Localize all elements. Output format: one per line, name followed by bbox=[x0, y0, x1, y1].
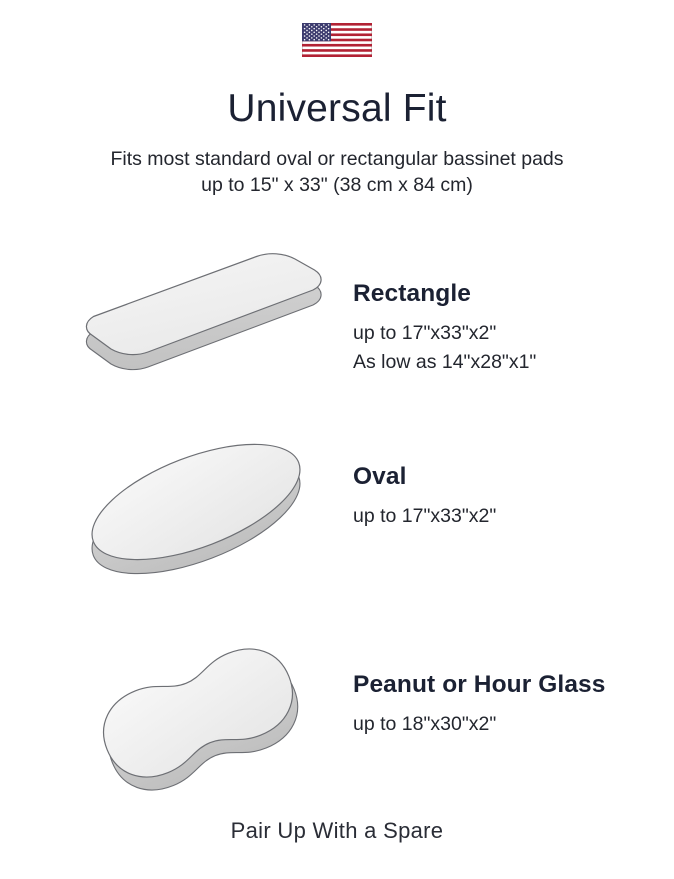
infographic-page: Universal Fit Fits most standard oval or… bbox=[0, 0, 674, 879]
oval-mattress-art bbox=[56, 430, 341, 620]
rectangle-info: Rectangle up to 17"x33"x2" As low as 14"… bbox=[353, 279, 653, 377]
shape-detail-rectangle-2: As low as 14"x28"x1" bbox=[353, 348, 653, 377]
shape-row-rectangle: Rectangle up to 17"x33"x2" As low as 14"… bbox=[0, 233, 674, 423]
footer-tagline: Pair Up With a Spare bbox=[0, 817, 674, 845]
peanut-mattress-art bbox=[56, 625, 341, 815]
shape-detail-oval-1: up to 17"x33"x2" bbox=[353, 502, 653, 531]
shape-heading-peanut: Peanut or Hour Glass bbox=[353, 670, 653, 699]
flag-container bbox=[0, 23, 674, 57]
oval-mattress-icon bbox=[56, 430, 341, 620]
us-flag-icon bbox=[302, 23, 372, 57]
subtitle-line-2: up to 15" x 33" (38 cm x 84 cm) bbox=[0, 172, 674, 198]
rectangle-mattress-icon bbox=[56, 233, 341, 423]
page-subtitle: Fits most standard oval or rectangular b… bbox=[0, 146, 674, 198]
shape-heading-rectangle: Rectangle bbox=[353, 279, 653, 308]
peanut-info: Peanut or Hour Glass up to 18"x30"x2" bbox=[353, 670, 653, 739]
shape-row-peanut: Peanut or Hour Glass up to 18"x30"x2" bbox=[0, 625, 674, 815]
subtitle-line-1: Fits most standard oval or rectangular b… bbox=[0, 146, 674, 172]
page-title: Universal Fit bbox=[0, 86, 674, 132]
oval-info: Oval up to 17"x33"x2" bbox=[353, 462, 653, 531]
rectangle-mattress-art bbox=[56, 233, 341, 423]
shape-detail-rectangle-1: up to 17"x33"x2" bbox=[353, 319, 653, 348]
shape-heading-oval: Oval bbox=[353, 462, 653, 491]
shape-row-oval: Oval up to 17"x33"x2" bbox=[0, 430, 674, 620]
shape-detail-peanut-1: up to 18"x30"x2" bbox=[353, 710, 653, 739]
peanut-mattress-icon bbox=[56, 625, 341, 815]
